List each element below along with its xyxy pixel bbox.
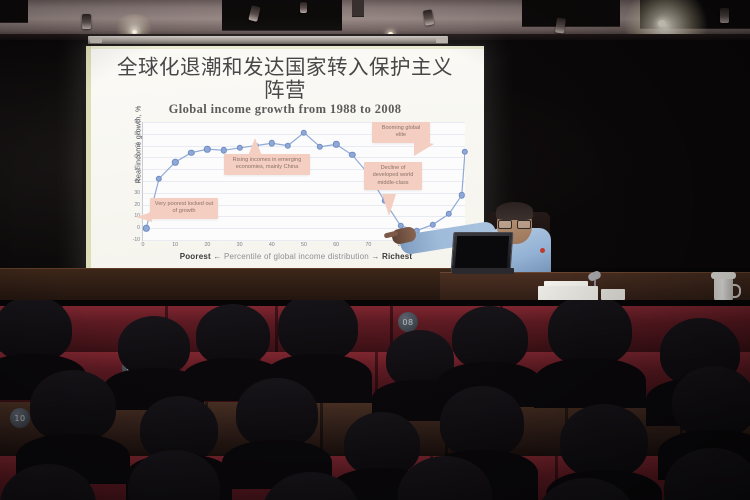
speaker-hair xyxy=(496,202,533,220)
chart-y-tick-label: -10 xyxy=(133,237,140,243)
audience-member xyxy=(452,306,528,370)
callout-tail xyxy=(248,138,262,156)
ceiling-panel xyxy=(0,0,28,23)
chart-y-tick-label: 20 xyxy=(134,202,140,208)
chart-x-tick-label: 50 xyxy=(301,242,307,248)
projection-screen: 全球化退潮和发达国家转入保护主义阵营 Global income growth … xyxy=(86,46,484,290)
audience-member xyxy=(118,316,190,376)
chart-y-tick-label: 50 xyxy=(134,166,140,172)
chart-y-tick-label: 90 xyxy=(134,119,140,125)
callout-tail xyxy=(382,194,396,216)
slide-border-left xyxy=(86,46,91,290)
slide-title: 全球化退潮和发达国家转入保护主义阵营 xyxy=(110,56,460,102)
glasses-lens xyxy=(517,220,531,229)
housing-end-cap xyxy=(436,38,448,43)
audience-member xyxy=(548,300,632,366)
seat-number-plate: 10 xyxy=(10,408,30,428)
callout-tail xyxy=(136,212,152,222)
chart-x-tick-label: 70 xyxy=(365,242,371,248)
audience-member xyxy=(196,304,270,366)
audience-member xyxy=(672,366,750,438)
papers-stack xyxy=(601,289,625,300)
seat-row xyxy=(0,306,750,352)
spotlight-fixture xyxy=(720,8,729,23)
speaker-badge xyxy=(540,248,545,253)
glasses-lens xyxy=(498,220,512,229)
spotlight-fixture xyxy=(82,14,91,29)
seat-number-plate: 08 xyxy=(398,312,418,332)
audience-member xyxy=(0,300,72,362)
ceiling-panel xyxy=(222,0,342,31)
audience-member xyxy=(344,412,420,476)
audience-member xyxy=(440,386,524,458)
audience-member xyxy=(560,404,648,478)
chart-x-axis-label: Poorest ← Percentile of global income di… xyxy=(120,252,472,261)
x-axis-left-arrow: ← xyxy=(213,252,221,261)
x-axis-right-arrow: → xyxy=(371,252,379,261)
chart-y-tick-label: 60 xyxy=(134,154,140,160)
chart-x-tick-label: 30 xyxy=(237,242,243,248)
chart-y-tick-label: 40 xyxy=(134,178,140,184)
audience-member xyxy=(30,370,116,442)
laptop-base[interactable] xyxy=(452,268,514,274)
audience-area: 07081003 xyxy=(0,300,750,500)
chart-x-tick-label: 40 xyxy=(269,242,275,248)
slide-border-top xyxy=(86,46,484,49)
slide-subtitle: Global income growth from 1988 to 2008 xyxy=(110,102,460,117)
laptop-display xyxy=(455,236,509,268)
spotlight-fixture xyxy=(300,2,307,13)
chart-x-tick-label: 0 xyxy=(142,242,145,248)
ceiling-panel xyxy=(522,0,620,27)
audience-member xyxy=(236,378,318,448)
glasses-icon xyxy=(498,220,530,227)
chart-data-point xyxy=(462,148,468,154)
chart-y-tick-label: 30 xyxy=(134,190,140,196)
x-axis-center-label: Percentile of global income distribution xyxy=(224,252,369,261)
chart-x-tick-label: 10 xyxy=(172,242,178,248)
housing-end-cap xyxy=(90,38,102,43)
teacup xyxy=(714,278,733,302)
chart-y-tick-label: 80 xyxy=(134,131,140,137)
audience-member-shoulders xyxy=(534,358,646,408)
teacup-lid xyxy=(711,272,736,279)
lecture-hall-scene: 全球化退潮和发达国家转入保护主义阵营 Global income growth … xyxy=(0,0,750,500)
audience-member xyxy=(278,300,358,362)
ceiling-panel xyxy=(352,0,364,17)
laptop-screen[interactable] xyxy=(451,232,514,272)
x-axis-poorest-label: Poorest xyxy=(180,252,211,261)
callout-tail xyxy=(414,140,434,156)
chart-x-tick-label: 60 xyxy=(333,242,339,248)
chart-y-tick-label: 0 xyxy=(137,225,140,231)
presentation-slide: 全球化退潮和发达国家转入保护主义阵营 Global income growth … xyxy=(86,46,484,290)
chart-y-tick-label: 70 xyxy=(134,143,140,149)
chart-x-tick-label: 20 xyxy=(204,242,210,248)
callout-middle-class-decline: Decline of developed world middle-class xyxy=(364,162,422,190)
callout-emerging-economies: Rising incomes in emerging economies, ma… xyxy=(224,154,310,175)
callout-very-poorest: Very poorest locked out of growth xyxy=(150,198,218,219)
